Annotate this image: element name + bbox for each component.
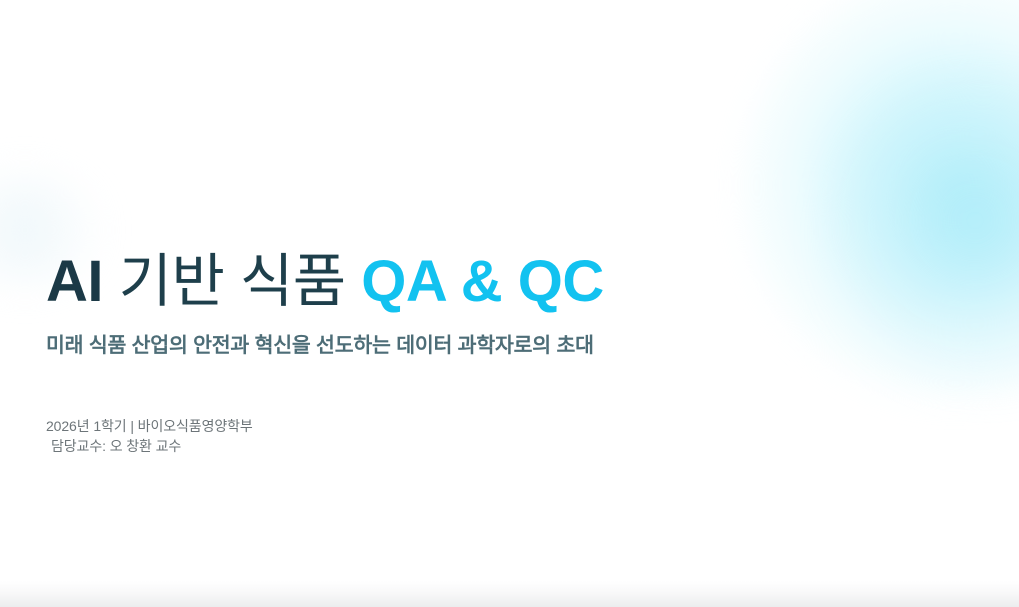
slide-content: AI 기반 식품 QA & QC 미래 식품 산업의 안전과 혁신을 선도하는 …	[46, 252, 946, 457]
course-instructor: 담당교수: 오 창환 교수	[46, 436, 946, 456]
title-segment-ai: AI	[46, 249, 103, 314]
page-title: AI 기반 식품 QA & QC	[46, 252, 946, 311]
course-term-department: 2026년 1학기 | 바이오식품영양학부	[46, 416, 946, 436]
title-slide: AI 기반 식품 QA & QC 미래 식품 산업의 안전과 혁신을 선도하는 …	[0, 0, 1019, 607]
page-subtitle: 미래 식품 산업의 안전과 혁신을 선도하는 데이터 과학자로의 초대	[46, 311, 946, 358]
course-meta: 2026년 1학기 | 바이오식품영양학부 담당교수: 오 창환 교수	[46, 358, 946, 457]
bottom-shading-band	[0, 581, 1019, 607]
title-segment-accent: QA & QC	[361, 249, 603, 314]
title-segment-korean: 기반 식품	[103, 249, 361, 314]
